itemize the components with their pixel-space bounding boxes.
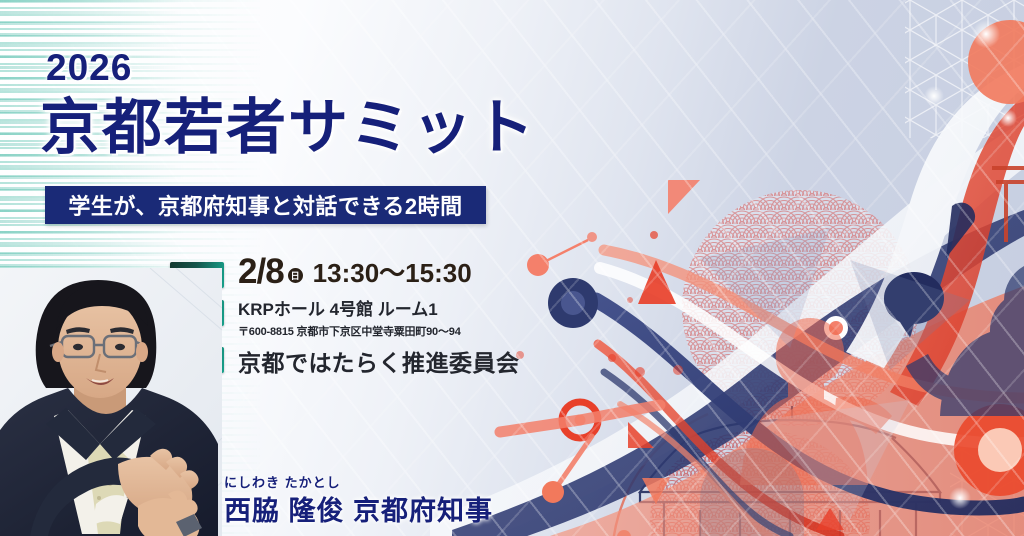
info-row-organizer-body: 京都ではたらく推進委員会 bbox=[238, 347, 520, 378]
event-subtitle: 学生が、京都府知事と対話できる2時間 bbox=[45, 186, 486, 224]
event-time: 13:30〜15:30 bbox=[313, 253, 472, 290]
organizer-name: 京都ではたらく推進委員会 bbox=[238, 344, 520, 378]
event-info-list: 日 程 2/8 日 13:30〜15:30 会 場 KRPホール 4号館 ルーム… bbox=[170, 262, 520, 388]
info-row-date: 日 程 2/8 日 13:30〜15:30 bbox=[170, 262, 520, 290]
day-of-week-chip: 日 bbox=[288, 268, 303, 283]
event-title: 京都若者サミット bbox=[40, 96, 536, 159]
speaker-name: 西脇 隆俊 京都府知事 bbox=[224, 489, 493, 528]
event-year: 2026 bbox=[46, 49, 132, 86]
venue-name: KRPホール 4号館 ルーム1 bbox=[238, 301, 461, 320]
event-date: 2/8 bbox=[238, 254, 284, 289]
info-row-organizer: 運 営 京都ではたらく推進委員会 bbox=[170, 347, 520, 378]
info-row-venue: 会 場 KRPホール 4号館 ルーム1 〒600-8815 京都市下京区中堂寺粟… bbox=[170, 300, 520, 339]
info-row-venue-body: KRPホール 4号館 ルーム1 〒600-8815 京都市下京区中堂寺粟田町90… bbox=[238, 300, 461, 339]
venue-address: 〒600-8815 京都市下京区中堂寺粟田町90〜94 bbox=[238, 323, 461, 339]
info-row-date-body: 2/8 日 13:30〜15:30 bbox=[238, 262, 472, 290]
speaker-portrait-photo bbox=[0, 268, 222, 536]
event-banner: 2026 京都若者サミット 学生が、京都府知事と対話できる2時間 日 程 2/8… bbox=[0, 0, 1024, 536]
